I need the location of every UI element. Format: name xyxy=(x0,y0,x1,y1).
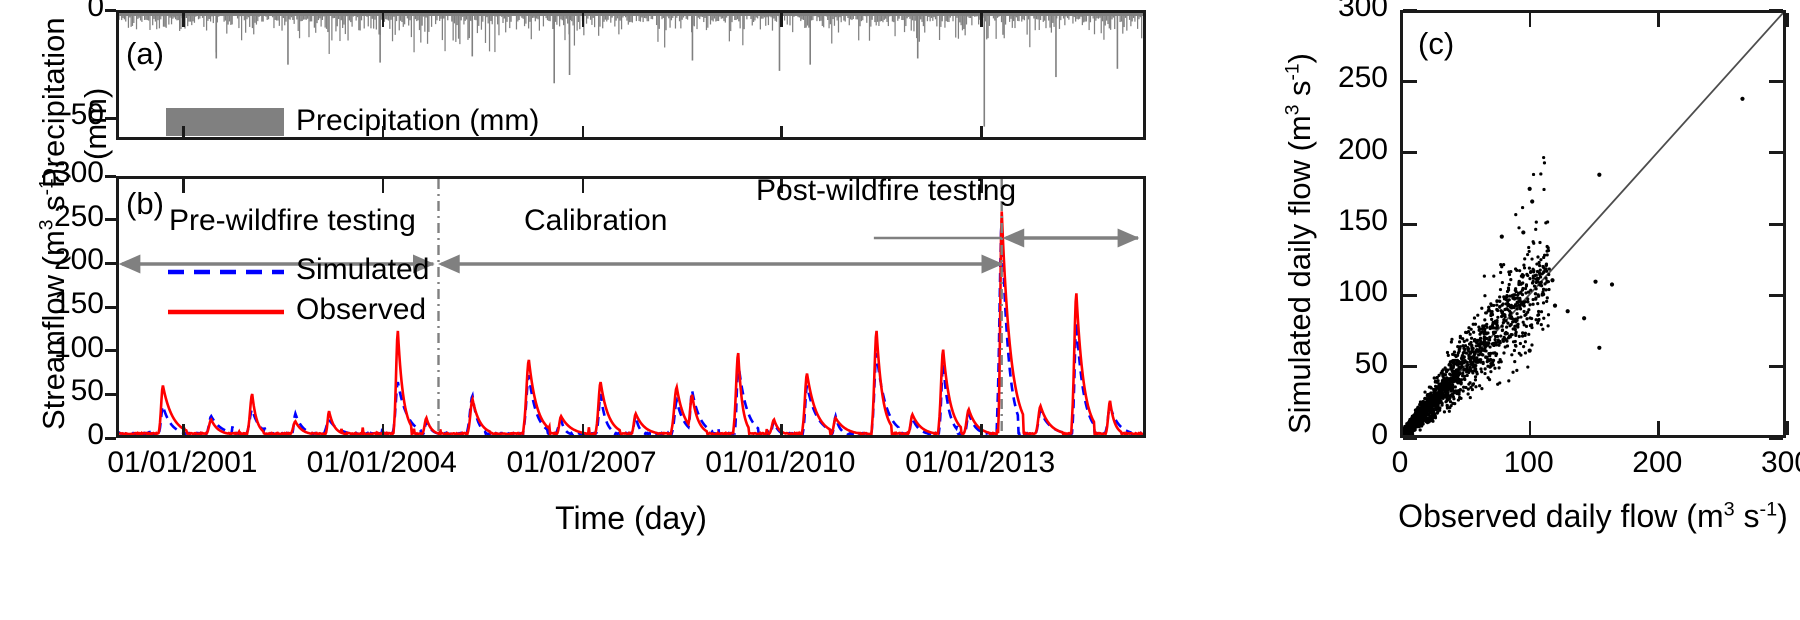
panel-a-xtick-top xyxy=(582,13,585,27)
panel-c-ytick xyxy=(1403,151,1417,154)
panel-c-xtick-label: 0 xyxy=(1340,446,1460,480)
panel-c-ytick xyxy=(1403,9,1417,12)
panel-b-ytick xyxy=(105,175,116,178)
panel-c-ytick xyxy=(1403,365,1417,368)
panel-c-xtick xyxy=(1400,421,1403,435)
panel-b-xtick xyxy=(780,424,783,438)
panel-a-xtick-top xyxy=(182,13,185,27)
panel-c-ytick xyxy=(1403,437,1417,440)
panel-c-xtick xyxy=(1786,421,1789,435)
panel-c-xtick-top xyxy=(1529,13,1532,27)
panel-c-xtick-top xyxy=(1400,13,1403,27)
panel-b-ytick xyxy=(105,218,116,221)
panel-c-xtick-label: 100 xyxy=(1469,446,1589,480)
panel-a-xtick-bottom xyxy=(382,126,385,140)
panel-c-xtick xyxy=(1657,421,1660,435)
panel-a-xtick-top xyxy=(780,13,783,27)
panel-a-xtick-bottom xyxy=(582,126,585,140)
panel-c-ytick-right xyxy=(1769,223,1783,226)
panel-b-id: (b) xyxy=(126,186,164,222)
panel-b-xtick-top xyxy=(582,179,585,193)
panel-c-xtick-label: 300 xyxy=(1726,446,1800,480)
panel-a-ytick xyxy=(105,9,116,12)
panel-b-xlabel: Time (day) xyxy=(521,500,741,537)
panel-c-ytick-right xyxy=(1769,365,1783,368)
panel-c-axes xyxy=(1400,10,1786,438)
panel-b-xtick xyxy=(980,424,983,438)
legend-label-simulated: Simulated xyxy=(296,253,429,287)
panel-c-ytick xyxy=(1403,80,1417,83)
panel-b-ylabel: Streamflow (m3 s-1) xyxy=(36,168,72,430)
panel-c-ytick-right xyxy=(1769,9,1783,12)
panel-a-xtick-bottom xyxy=(780,126,783,140)
panel-a-xtick-bottom xyxy=(980,126,983,140)
panel-c-xlabel: Observed daily flow (m3 s-1) xyxy=(1360,498,1800,535)
precipitation-legend-label: Precipitation (mm) xyxy=(296,104,539,138)
annotation-post-wildfire: Post-wildfire testing xyxy=(756,174,1016,208)
panel-b-ytick xyxy=(105,393,116,396)
panel-c-xtick-label: 200 xyxy=(1597,446,1717,480)
panel-a-xtick-top xyxy=(980,13,983,27)
panel-c-xtick xyxy=(1529,421,1532,435)
annotation-pre-wildfire: Pre-wildfire testing xyxy=(169,204,416,238)
panel-c-ytick-right xyxy=(1769,294,1783,297)
panel-b-xtick xyxy=(182,424,185,438)
panel-b-xtick xyxy=(382,424,385,438)
panel-a-id: (a) xyxy=(126,36,164,72)
panel-b-ytick xyxy=(105,349,116,352)
panel-c-ytick-right xyxy=(1769,80,1783,83)
panel-b-ytick xyxy=(105,306,116,309)
legend-label-observed: Observed xyxy=(296,293,426,327)
panel-c-ytick xyxy=(1403,223,1417,226)
panel-a-xtick-top xyxy=(382,13,385,27)
panel-a-xtick-bottom xyxy=(182,126,185,140)
panel-c-ytick-label: 300 xyxy=(1288,0,1388,24)
panel-c-ytick-right xyxy=(1769,437,1783,440)
panel-b-ytick xyxy=(105,262,116,265)
panel-b-xtick-top xyxy=(182,179,185,193)
panel-b-xtick-label: 01/01/2013 xyxy=(860,446,1100,480)
panel-c-id: (c) xyxy=(1418,26,1454,62)
panel-a-ylabel-line2: (mm) xyxy=(78,88,114,160)
panel-c-ytick xyxy=(1403,294,1417,297)
annotation-calibration: Calibration xyxy=(524,204,667,238)
panel-c-xtick-top xyxy=(1786,13,1789,27)
hydrograph-legend-lines xyxy=(166,262,316,322)
figure-root: 050(a)Precipitation(mm)Precipitation (mm… xyxy=(0,0,1800,620)
panel-b-ytick xyxy=(105,437,116,440)
panel-c-ylabel: Simulated daily flow (m3 s-1) xyxy=(1282,53,1318,434)
panel-b-xtick xyxy=(582,424,585,438)
panel-b-xtick-top xyxy=(382,179,385,193)
panel-c-ytick-right xyxy=(1769,151,1783,154)
panel-c-xtick-top xyxy=(1657,13,1660,27)
